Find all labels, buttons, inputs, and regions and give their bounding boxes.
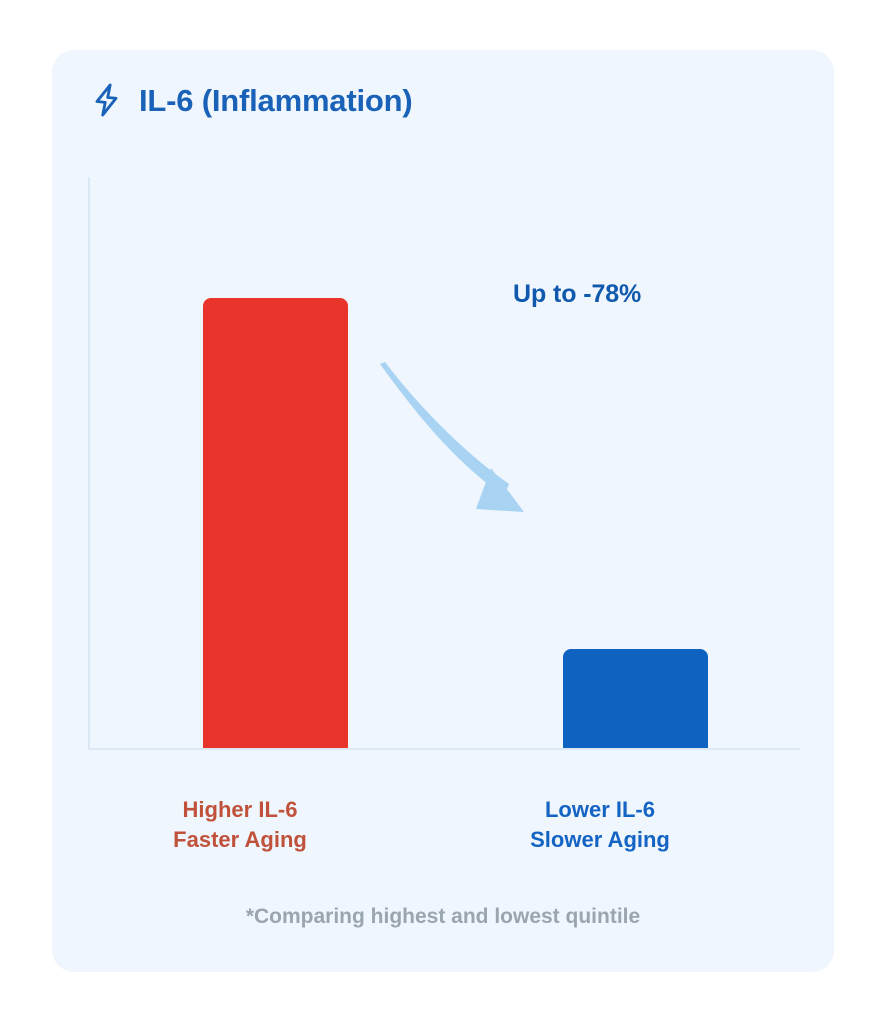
bar-chart-plot-area <box>88 177 800 750</box>
lightning-bolt-icon <box>92 82 122 118</box>
card-header: IL-6 (Inflammation) <box>92 82 412 118</box>
decrease-arrow-icon <box>378 362 578 542</box>
page-root: IL-6 (Inflammation) Up to -78% Higher IL… <box>0 0 884 1024</box>
chart-footnote: *Comparing highest and lowest quintile <box>52 905 834 929</box>
chart-card: IL-6 (Inflammation) Up to -78% Higher IL… <box>52 50 834 972</box>
x-tick-label-lower-il6: Lower IL-6 Slower Aging <box>450 795 750 856</box>
x-axis-line <box>88 748 800 750</box>
bar-lower-il6[interactable] <box>563 649 708 748</box>
annotation-up-to-78: Up to -78% <box>513 280 641 309</box>
y-axis-line <box>88 177 90 750</box>
page-title: IL-6 (Inflammation) <box>139 85 412 116</box>
x-tick-label-higher-il6: Higher IL-6 Faster Aging <box>90 795 390 856</box>
bar-higher-il6[interactable] <box>203 298 348 748</box>
